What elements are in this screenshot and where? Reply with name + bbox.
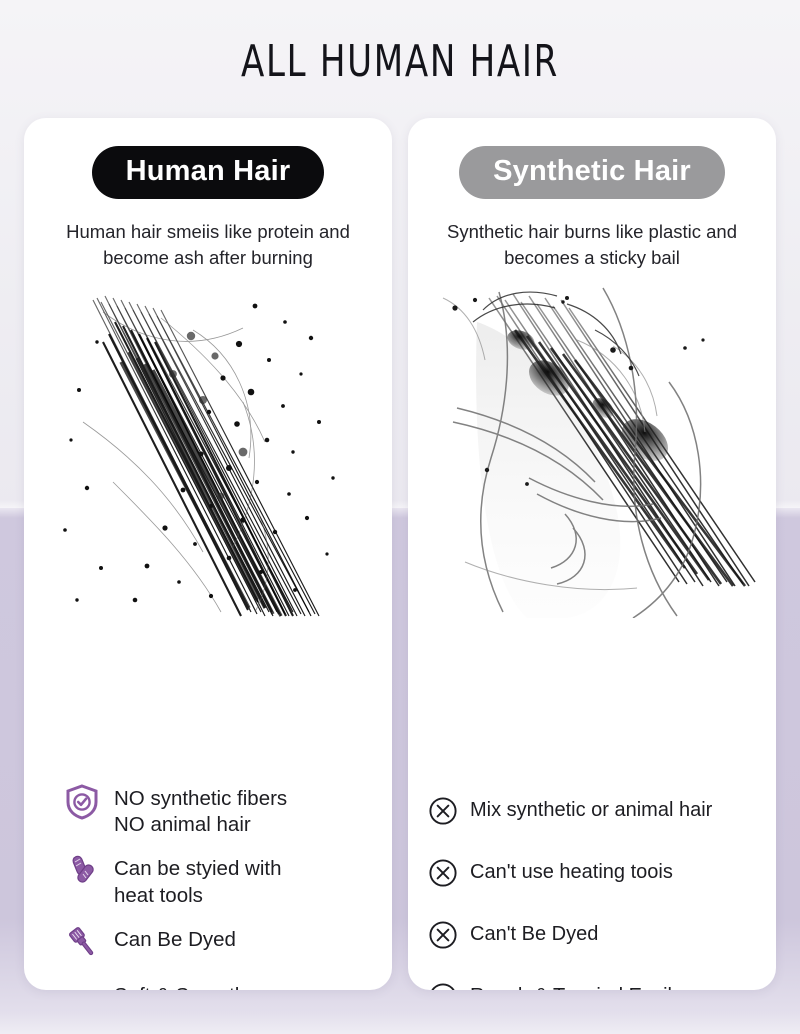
page-title: ALL HUMAN HAIR: [56, 36, 744, 87]
feature-label: Can't Be Dyed: [470, 922, 598, 948]
feature-label: Rough & Tangied Easily: [470, 984, 682, 990]
dye-brush-icon: [62, 923, 102, 963]
card-synthetic-hair: Synthetic Hair Synthetic hair burns like…: [408, 118, 776, 990]
human-hair-photo-graphic: [43, 282, 373, 618]
badge-container-synthetic: Synthetic Hair: [408, 146, 776, 199]
feature-row: Soft & Smooth: [24, 979, 392, 990]
feature-label: Soft & Smooth: [114, 979, 246, 990]
feature-label: Can Be Dyed: [114, 923, 236, 953]
feature-row: Can't use heating toois: [408, 852, 776, 894]
feature-label: Can be styied with heat tools: [114, 852, 282, 908]
badge-synthetic-hair[interactable]: Synthetic Hair: [459, 146, 725, 199]
flat-iron-icon: [62, 852, 102, 892]
feature-label: Mix synthetic or animal hair: [470, 798, 712, 824]
circle-x-icon: [426, 856, 460, 890]
burning-human-hair-photo: [43, 282, 373, 618]
badge-human-hair[interactable]: Human Hair: [92, 146, 325, 199]
smooth-hair-icon: [62, 979, 102, 990]
feature-row: Can't Be Dyed: [408, 914, 776, 956]
feature-label: Can't use heating toois: [470, 860, 673, 886]
feature-row: Rough & Tangied Easily: [408, 976, 776, 990]
description-synthetic-hair: Synthetic hair burns like plastic and be…: [416, 219, 768, 272]
feature-row: Can Be Dyed: [24, 923, 392, 965]
feature-row: Mix synthetic or animal hair: [408, 790, 776, 832]
circle-x-icon: [426, 794, 460, 828]
circle-x-icon: [426, 918, 460, 952]
feature-label: NO synthetic fibers NO animal hair: [114, 782, 287, 838]
feature-row: NO synthetic fibers NO animal hair: [24, 782, 392, 838]
feature-row: Can be styied with heat tools: [24, 852, 392, 908]
card-human-hair: Human Hair Human hair smeiis like protei…: [24, 118, 392, 990]
circle-x-icon: [426, 980, 460, 990]
shield-check-icon: [62, 782, 102, 822]
badge-container-human: Human Hair: [24, 146, 392, 199]
synthetic-hair-photo-graphic: [417, 282, 767, 618]
feature-list-synthetic-hair: Mix synthetic or animal hair Can't use h…: [408, 790, 776, 990]
description-human-hair: Human hair smeiis like protein and becom…: [43, 219, 373, 272]
feature-list-human-hair: NO synthetic fibers NO animal hair Can b…: [24, 782, 392, 990]
burning-synthetic-hair-photo: [417, 282, 767, 618]
